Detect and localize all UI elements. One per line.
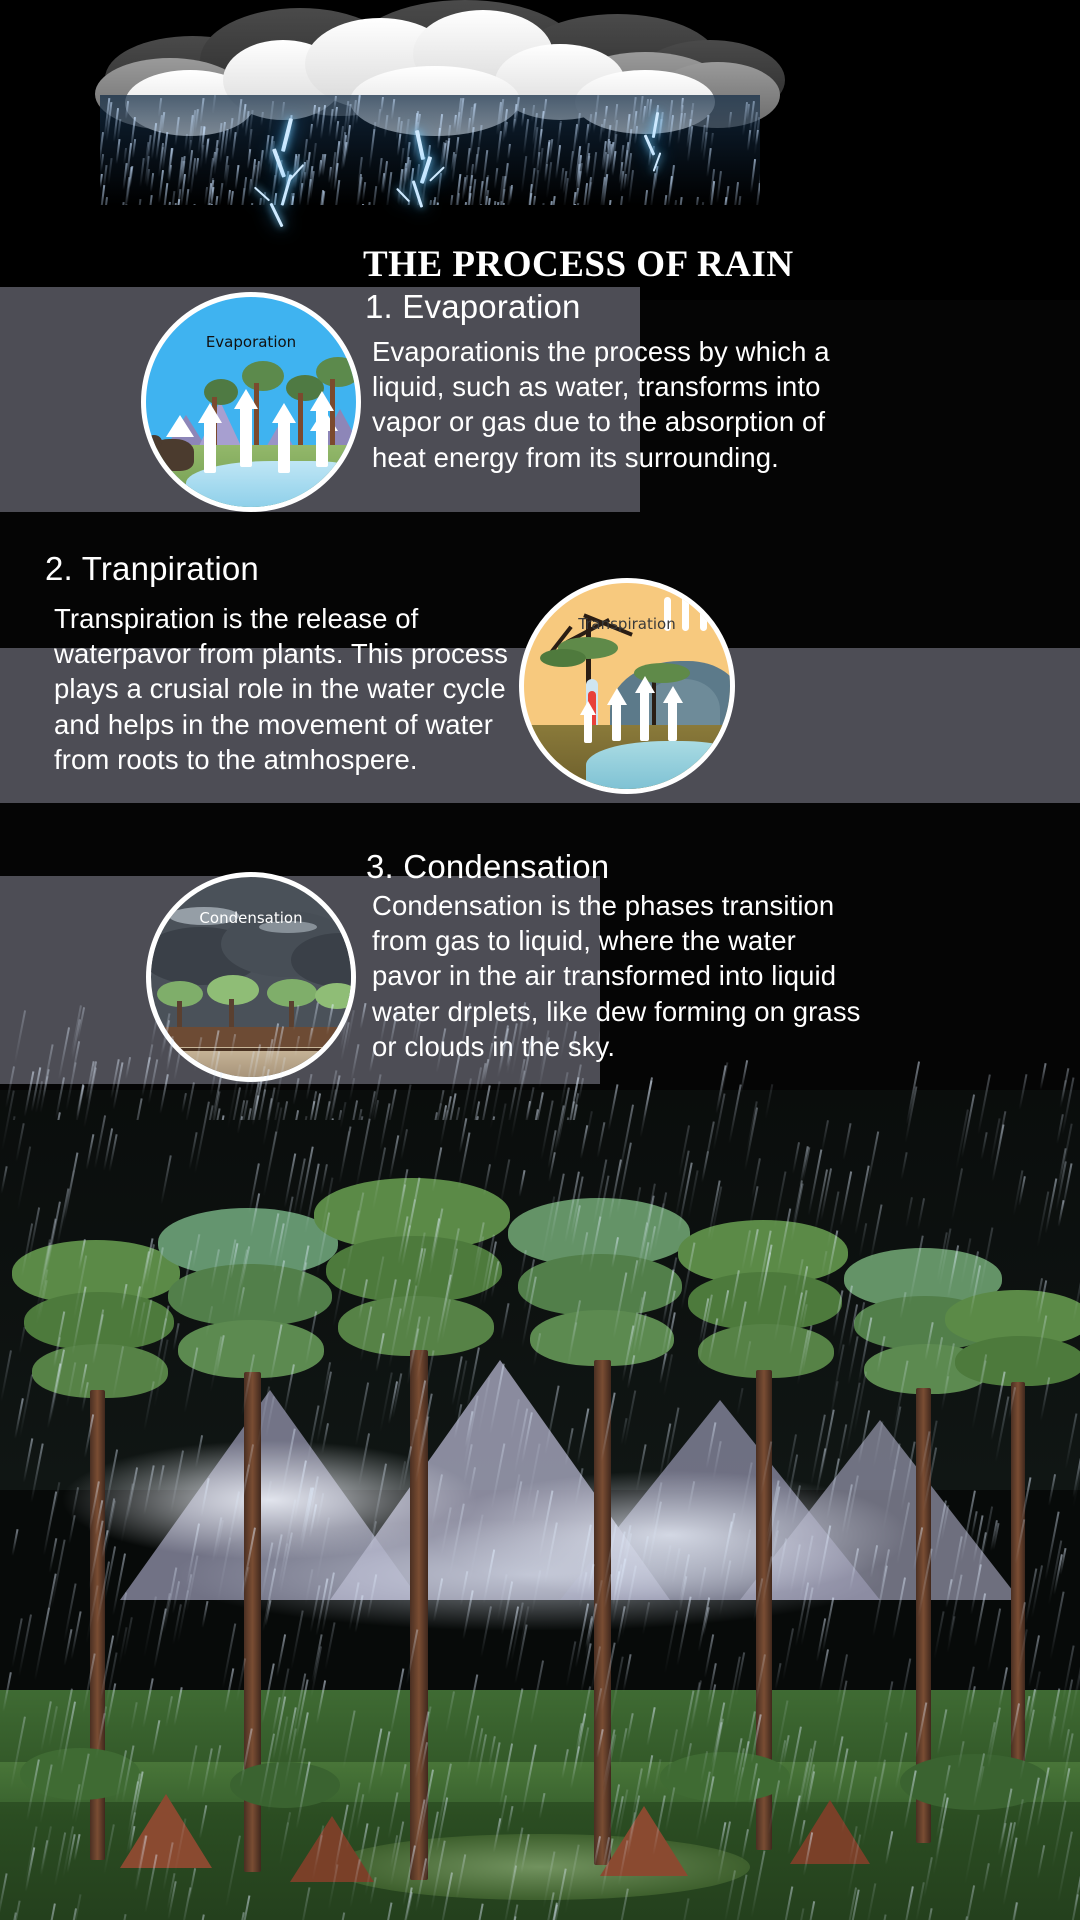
page-title: THE PROCESS OF RAIN	[363, 243, 1063, 286]
evaporation-circle-label: Evaporation	[146, 333, 356, 351]
storm-rain	[100, 95, 760, 205]
transpiration-circle-label: Transpiration	[524, 615, 730, 633]
section-1-body: Evaporationis the process by which a liq…	[372, 334, 837, 475]
section-2-body: Transpiration is the release of waterpav…	[54, 601, 524, 777]
section-3-body: Condensation is the phases transition fr…	[372, 888, 867, 1064]
transpiration-illustration: Transpiration	[519, 578, 735, 794]
section-3-heading: 3. Condensation	[366, 848, 1046, 886]
infographic-poster: THE PROCESS OF RAIN Evaporation	[0, 0, 1080, 1920]
evaporation-illustration: Evaporation	[141, 292, 361, 512]
condensation-illustration: Condensation	[146, 872, 356, 1082]
section-2-heading: 2. Tranpiration	[45, 550, 665, 588]
condensation-circle-label: Condensation	[151, 909, 351, 927]
section-1-heading: 1. Evaporation	[365, 288, 1045, 326]
forest-scene	[0, 1090, 1080, 1920]
